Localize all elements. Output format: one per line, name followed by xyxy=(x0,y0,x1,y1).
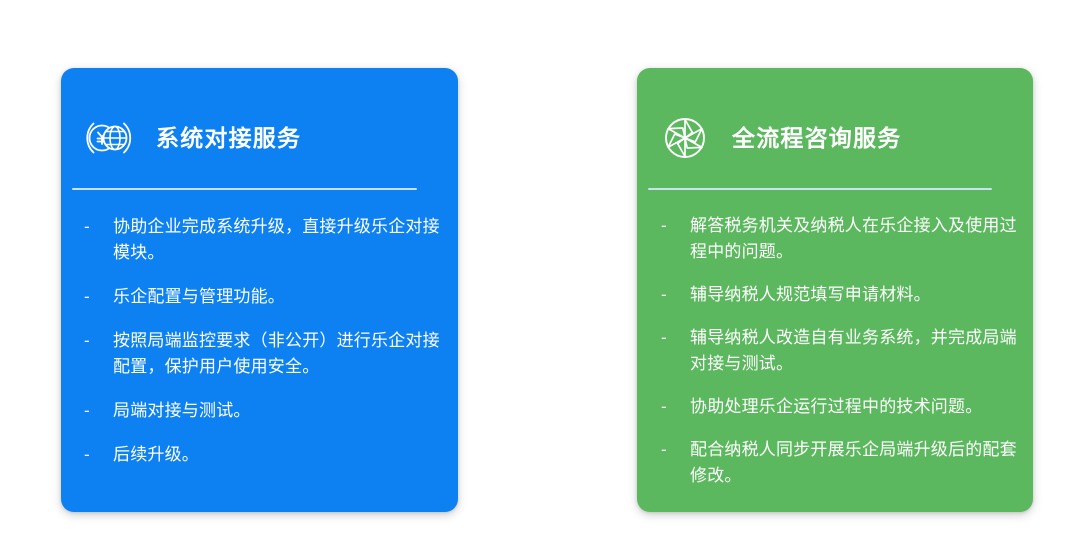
bullet-text: 乐企配置与管理功能。 xyxy=(113,284,440,310)
service-bullet-list: - 协助企业完成系统升级，直接升级乐企对接模块。 - 乐企配置与管理功能。 - … xyxy=(61,190,458,468)
bullet-marker: - xyxy=(661,394,690,420)
service-card-full-process-consulting[interactable]: 全流程咨询服务 - 解答税务机关及纳税人在乐企接入及使用过程中的问题。 - 辅导… xyxy=(637,68,1033,512)
slide-canvas: 系统对接服务 - 协助企业完成系统升级，直接升级乐企对接模块。 - 乐企配置与管… xyxy=(0,0,1080,559)
bullet-text: 协助处理乐企运行过程中的技术问题。 xyxy=(690,394,1019,420)
bullet-marker: - xyxy=(84,398,113,424)
bullet-text: 局端对接与测试。 xyxy=(113,398,440,424)
list-item: - 后续升级。 xyxy=(84,442,440,468)
bullet-text: 辅导纳税人规范填写申请材料。 xyxy=(690,282,1019,308)
bullet-text: 解答税务机关及纳税人在乐企接入及使用过程中的问题。 xyxy=(690,213,1019,265)
list-item: - 解答税务机关及纳税人在乐企接入及使用过程中的问题。 xyxy=(661,213,1019,265)
bullet-marker: - xyxy=(661,437,690,463)
service-card-system-integration[interactable]: 系统对接服务 - 协助企业完成系统升级，直接升级乐企对接模块。 - 乐企配置与管… xyxy=(61,68,458,512)
bullet-marker: - xyxy=(84,328,113,354)
card-title: 系统对接服务 xyxy=(156,127,301,150)
list-item: - 协助企业完成系统升级，直接升级乐企对接模块。 xyxy=(84,214,440,266)
list-item: - 按照局端监控要求（非公开）进行乐企对接配置，保护用户使用安全。 xyxy=(84,328,440,380)
service-bullet-list: - 解答税务机关及纳税人在乐企接入及使用过程中的问题。 - 辅导纳税人规范填写申… xyxy=(637,190,1033,489)
list-item: - 协助处理乐企运行过程中的技术问题。 xyxy=(661,394,1019,420)
bullet-marker: - xyxy=(84,214,113,240)
bullet-marker: - xyxy=(661,282,690,308)
yuan-coin-globe-icon xyxy=(81,110,137,166)
bullet-marker: - xyxy=(661,325,690,351)
list-item: - 辅导纳税人改造自有业务系统，并完成局端对接与测试。 xyxy=(661,325,1019,377)
list-item: - 配合纳税人同步开展乐企局端升级后的配套修改。 xyxy=(661,437,1019,489)
bullet-text: 配合纳税人同步开展乐企局端升级后的配套修改。 xyxy=(690,437,1019,489)
card-title: 全流程咨询服务 xyxy=(732,127,901,150)
list-item: - 辅导纳税人规范填写申请材料。 xyxy=(661,282,1019,308)
bullet-text: 按照局端监控要求（非公开）进行乐企对接配置，保护用户使用安全。 xyxy=(113,328,440,380)
card-header: 全流程咨询服务 xyxy=(637,68,1033,171)
card-header: 系统对接服务 xyxy=(61,68,458,171)
bullet-marker: - xyxy=(84,284,113,310)
list-item: - 局端对接与测试。 xyxy=(84,398,440,424)
bullet-text: 辅导纳税人改造自有业务系统，并完成局端对接与测试。 xyxy=(690,325,1019,377)
bullet-text: 协助企业完成系统升级，直接升级乐企对接模块。 xyxy=(113,214,440,266)
camera-aperture-icon xyxy=(657,110,713,166)
bullet-text: 后续升级。 xyxy=(113,442,440,468)
bullet-marker: - xyxy=(661,213,690,239)
bullet-marker: - xyxy=(84,442,113,468)
list-item: - 乐企配置与管理功能。 xyxy=(84,284,440,310)
